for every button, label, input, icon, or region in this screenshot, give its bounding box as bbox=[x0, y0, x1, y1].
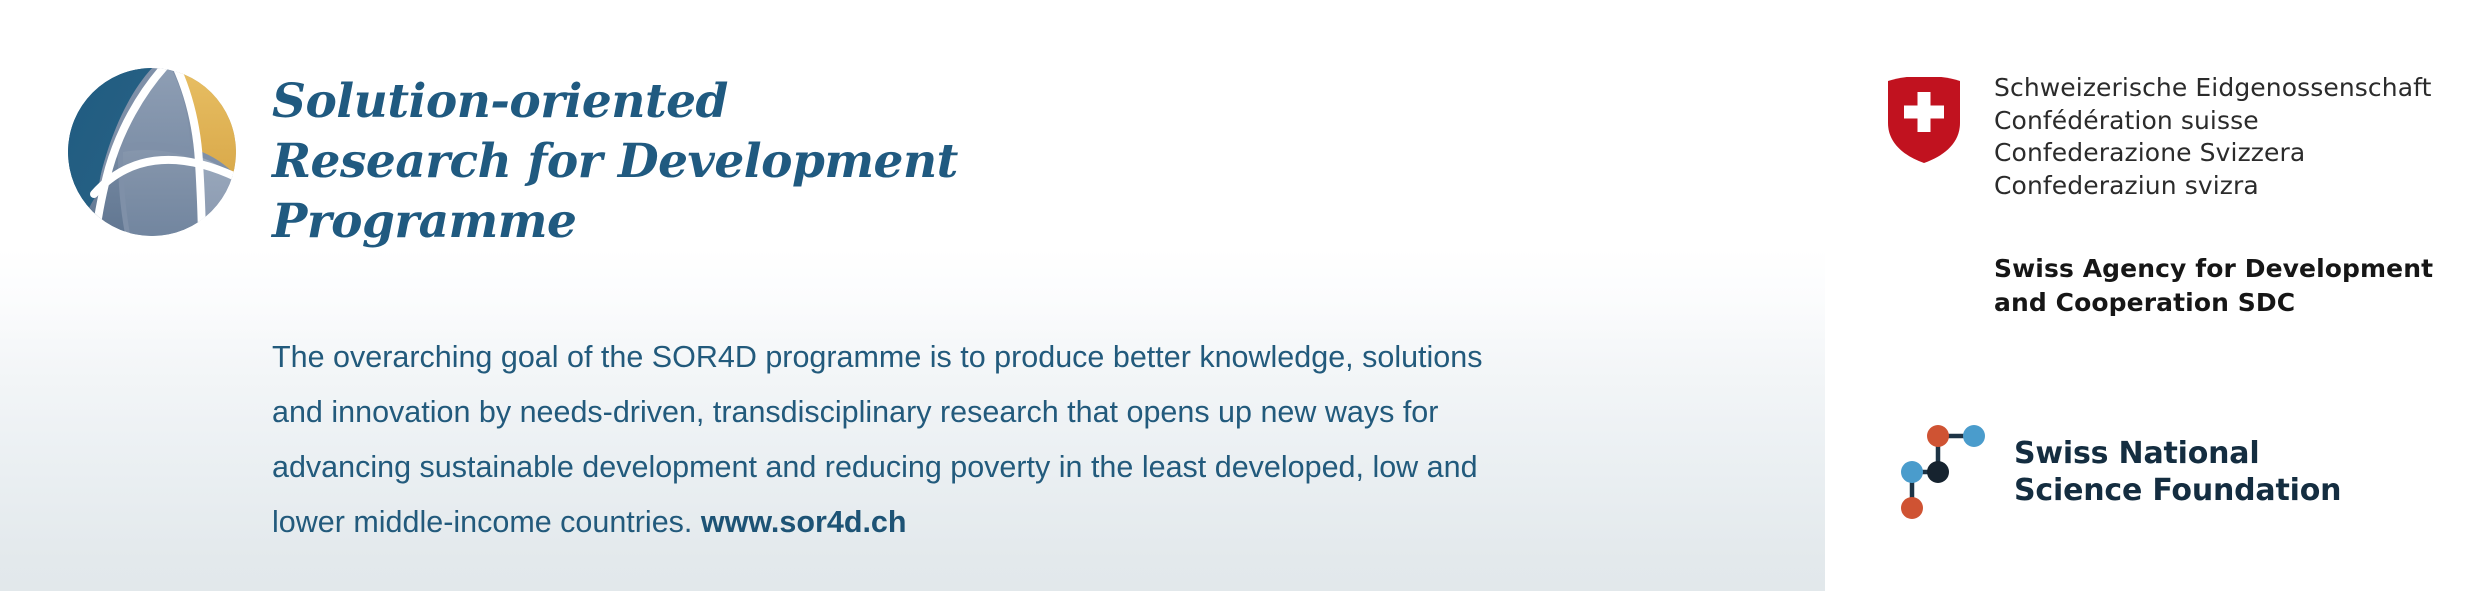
intro-paragraph: The overarching goal of the SOR4D progra… bbox=[272, 330, 1692, 550]
swiss-shield-icon bbox=[1888, 77, 1960, 163]
snsf-name: Swiss National Science Foundation bbox=[2014, 435, 2341, 509]
confederation-lang-de: Schweizerische Eidgenossenschaft bbox=[1994, 72, 2431, 105]
programme-title-line-2: Research for Development bbox=[272, 132, 1272, 192]
programme-title-line-1: Solution-oriented bbox=[272, 72, 1272, 132]
programme-title: Solution-oriented Research for Developme… bbox=[272, 72, 1272, 252]
confederation-lang-it: Confederazione Svizzera bbox=[1994, 137, 2431, 170]
swiss-confederation-logo: Schweizerische Eidgenossenschaft Confédé… bbox=[1888, 72, 2431, 202]
snsf-name-line-1: Swiss National bbox=[2014, 435, 2341, 472]
intro-line-2: and innovation by needs-driven, transdis… bbox=[272, 385, 1692, 440]
intro-line-4: lower middle-income countries. www.sor4d… bbox=[272, 495, 1692, 550]
intro-line-4-text: lower middle-income countries. bbox=[272, 505, 692, 539]
sor4d-banner: Solution-oriented Research for Developme… bbox=[0, 0, 2480, 591]
intro-line-1: The overarching goal of the SOR4D progra… bbox=[272, 330, 1692, 385]
confederation-lang-rm: Confederaziun svizra bbox=[1994, 170, 2431, 203]
intro-line-3: advancing sustainable development and re… bbox=[272, 440, 1692, 495]
snsf-logo: Swiss National Science Foundation bbox=[1898, 420, 2341, 524]
snsf-name-line-2: Science Foundation bbox=[2014, 472, 2341, 509]
programme-title-line-3: Programme bbox=[272, 192, 1272, 252]
sor4d-globe-icon bbox=[66, 66, 238, 238]
sdc-agency-name-line-2: and Cooperation SDC bbox=[1994, 286, 2433, 320]
sor4d-website-link[interactable]: www.sor4d.ch bbox=[701, 505, 907, 539]
confederation-language-list: Schweizerische Eidgenossenschaft Confédé… bbox=[1994, 72, 2431, 202]
sdc-agency-name: Swiss Agency for Development and Coopera… bbox=[1994, 252, 2433, 320]
snsf-node-graph-icon bbox=[1898, 420, 1992, 524]
sdc-agency-name-line-1: Swiss Agency for Development bbox=[1994, 252, 2433, 286]
confederation-lang-fr: Confédération suisse bbox=[1994, 105, 2431, 138]
